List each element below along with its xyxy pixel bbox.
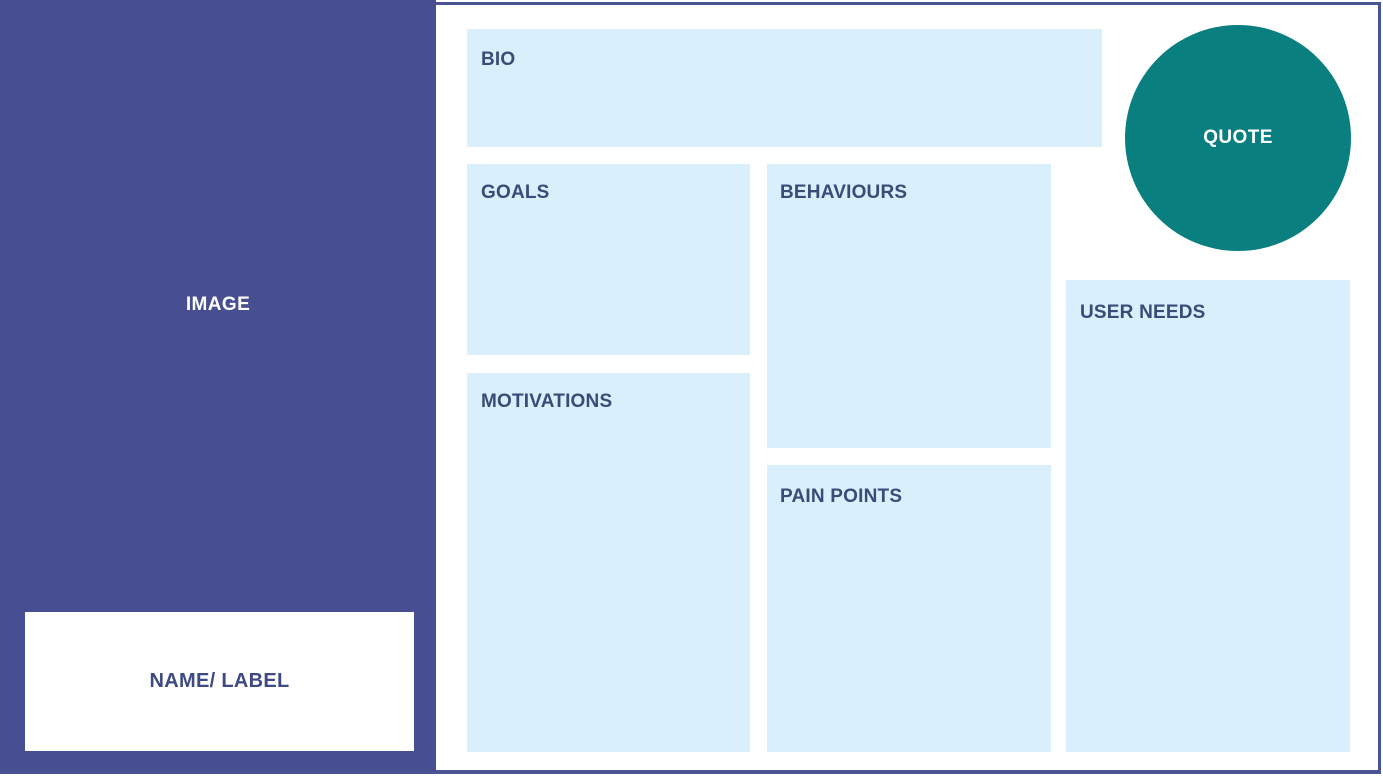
block-pain-points-title: PAIN POINTS — [780, 486, 902, 508]
block-motivations[interactable] — [467, 373, 750, 752]
name-label-card[interactable]: NAME/ LABEL — [25, 612, 414, 751]
block-goals-title: GOALS — [481, 182, 550, 204]
image-panel[interactable]: IMAGE NAME/ LABEL — [0, 0, 436, 772]
block-pain-points[interactable] — [767, 465, 1051, 752]
block-behaviours[interactable] — [767, 164, 1051, 448]
name-label-text: NAME/ LABEL — [150, 670, 290, 693]
quote-circle[interactable]: QUOTE — [1125, 25, 1351, 251]
block-motivations-title: MOTIVATIONS — [481, 391, 612, 413]
image-placeholder-label: IMAGE — [0, 294, 436, 316]
block-user-needs-title: USER NEEDS — [1080, 302, 1206, 324]
frame-border-top — [436, 2, 1381, 5]
block-bio-title: BIO — [481, 49, 515, 71]
block-behaviours-title: BEHAVIOURS — [780, 182, 907, 204]
persona-template-canvas: IMAGE NAME/ LABEL BIO GOALS MOTIVATIONS … — [0, 0, 1383, 780]
quote-label: QUOTE — [1203, 127, 1273, 149]
frame-border-right — [1378, 2, 1381, 770]
block-user-needs[interactable] — [1066, 280, 1350, 752]
block-bio[interactable] — [467, 29, 1102, 147]
